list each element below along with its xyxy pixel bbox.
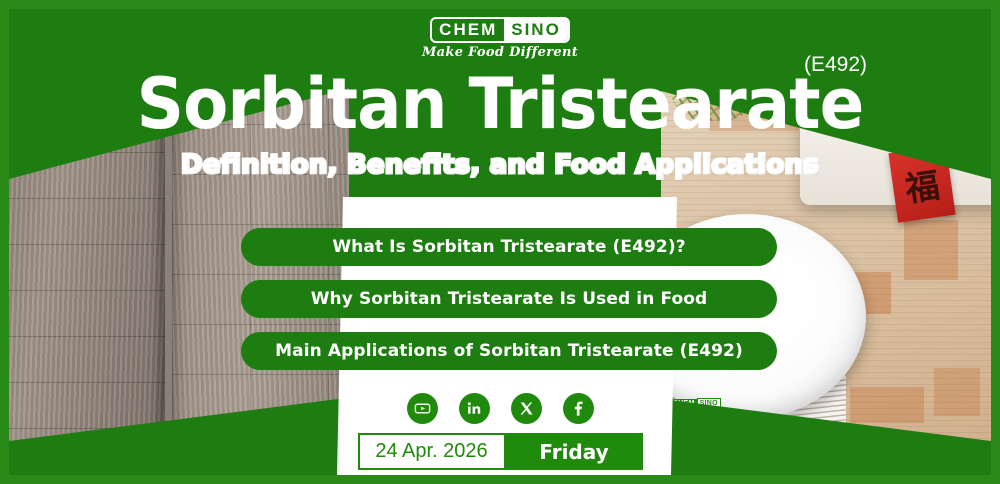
brand-logo[interactable]: CHEM SINO Make Food Different <box>422 17 578 60</box>
facebook-icon[interactable] <box>563 393 594 424</box>
x-twitter-icon[interactable] <box>511 393 542 424</box>
topic-pill-1[interactable]: What Is Sorbitan Tristearate (E492)? <box>241 228 777 266</box>
date-bar-inner: 24 Apr. 2026 Friday <box>358 433 643 470</box>
social-links <box>9 393 991 424</box>
page-title: Sorbitan Tristearate <box>38 69 961 139</box>
linkedin-icon[interactable] <box>459 393 490 424</box>
logo-text-sino: SINO <box>504 19 568 41</box>
logo-text-chem: CHEM <box>432 19 504 41</box>
promo-banner: 福 CHEM SINO CHEM SINO <box>0 0 1000 484</box>
banner-header: CHEM SINO Make Food Different (E492) Sor… <box>9 9 991 174</box>
date-bar: 24 Apr. 2026 Friday <box>9 433 991 470</box>
page-subtitle: Definition, Benefits, and Food Applicati… <box>9 150 991 180</box>
banner-stage: 福 CHEM SINO CHEM SINO <box>9 9 991 475</box>
logo-mark: CHEM SINO <box>430 17 570 43</box>
topic-pill-2[interactable]: Why Sorbitan Tristearate Is Used in Food <box>241 280 777 318</box>
weekday-value: Friday <box>506 433 643 470</box>
date-value: 24 Apr. 2026 <box>358 433 506 470</box>
youtube-icon[interactable] <box>407 393 438 424</box>
topic-pill-3[interactable]: Main Applications of Sorbitan Tristearat… <box>241 332 777 370</box>
brand-tagline: Make Food Different <box>422 45 578 60</box>
